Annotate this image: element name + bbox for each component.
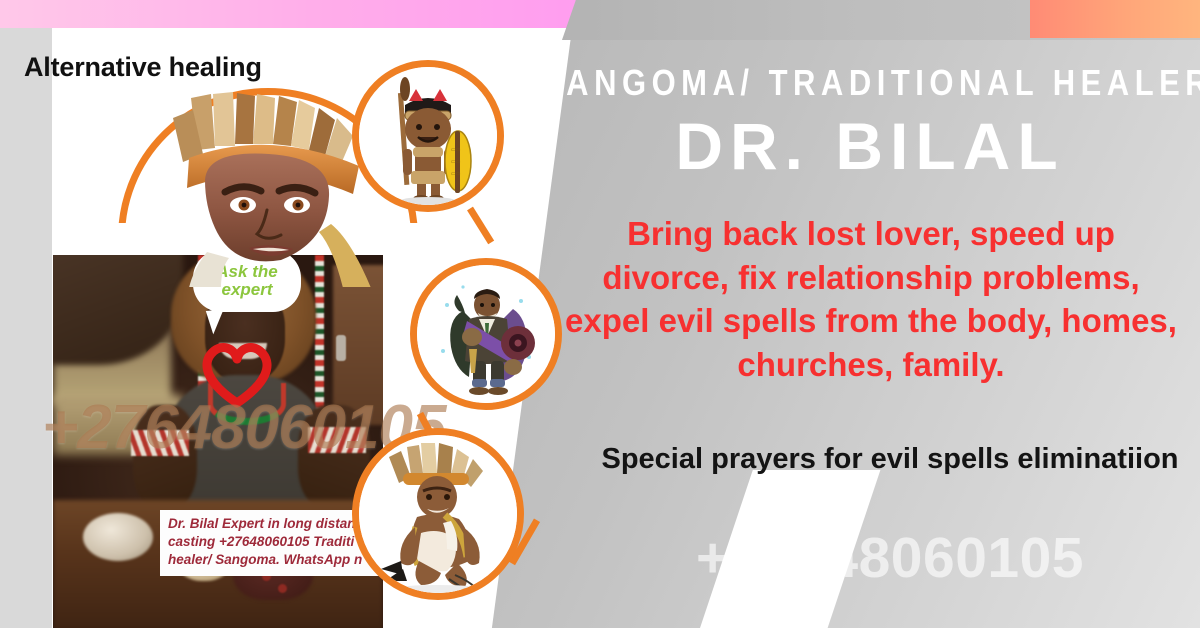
services-red-text: Bring back lost lover, speed up divorce,… xyxy=(562,212,1180,386)
photo-bowl xyxy=(83,513,153,561)
svg-text:▭▭: ▭▭ xyxy=(451,159,461,165)
doctor-name-heading: DR. BILAL xyxy=(540,108,1200,184)
traditional-healer-portrait-illustration xyxy=(163,92,378,287)
caption-line-3: healer/ Sangoma. WhatsApp n xyxy=(168,551,386,569)
right-text-column: SANGOMA/ TRADITIONAL HEALER DR. BILAL Br… xyxy=(540,0,1200,628)
left-gray-edge-strip xyxy=(0,0,52,628)
flyer-canvas: ▭▭▭▭▭▭ xyxy=(0,0,1200,628)
caption-line-2: casting +27648060105 Traditi xyxy=(168,533,386,551)
zulu-warrior-illustration: ▭▭▭▭▭▭ xyxy=(352,60,504,212)
services-black-text: Special prayers for evil spells eliminat… xyxy=(600,440,1180,479)
crouching-warrior-illustration xyxy=(352,428,524,600)
svg-text:▭▭: ▭▭ xyxy=(451,147,461,153)
svg-text:▭▭: ▭▭ xyxy=(451,171,461,177)
phone-watermark: +27648060105 xyxy=(580,525,1200,591)
kicker-heading: SANGOMA/ TRADITIONAL HEALER xyxy=(540,62,1200,104)
photo-door-handle xyxy=(336,335,346,361)
alternative-healing-heading: Alternative healing xyxy=(24,52,262,83)
pink-top-strip xyxy=(0,0,600,28)
